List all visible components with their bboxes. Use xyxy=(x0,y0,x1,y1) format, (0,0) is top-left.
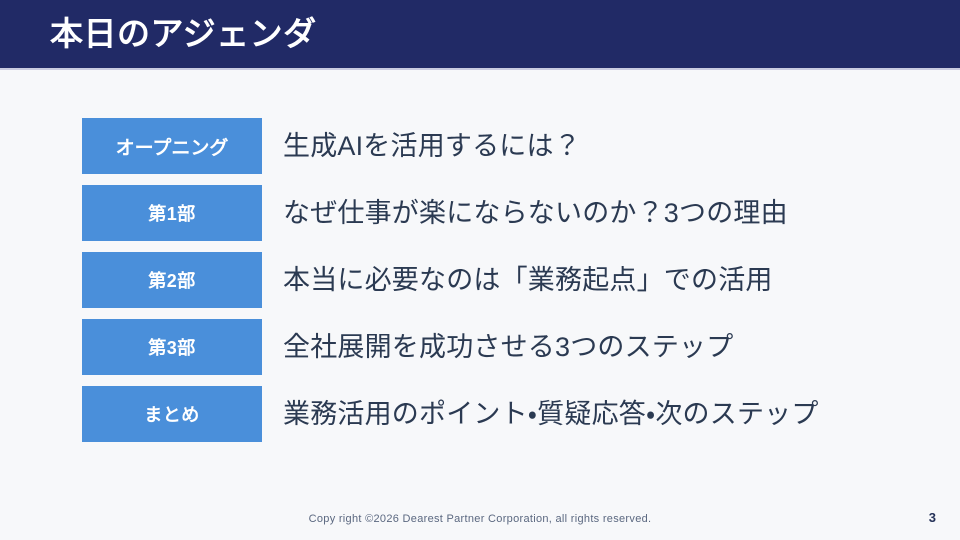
page-title: 本日のアジェンダ xyxy=(50,11,317,57)
agenda-chip-summary: まとめ xyxy=(82,386,262,442)
agenda-row-text: 生成AIを活用するには？ xyxy=(283,129,581,163)
copyright-notice: Copy right ©2026 Dearest Partner Corpora… xyxy=(0,512,960,526)
agenda-row-text: 業務活用のポイント・質疑応答・次のステップ xyxy=(283,397,819,431)
agenda-row: 第2部 本当に必要なのは「業務起点」での活用 xyxy=(82,252,882,308)
agenda-chip-part2: 第2部 xyxy=(82,252,262,308)
agenda-row: オープニング 生成AIを活用するには？ xyxy=(82,118,882,174)
agenda-row-text: 全社展開を成功させる3つのステップ xyxy=(283,330,733,364)
page-number: 3 xyxy=(929,510,936,525)
agenda-chip-opening: オープニング xyxy=(82,118,262,174)
agenda-chip-part1: 第1部 xyxy=(82,185,262,241)
agenda-row: 第1部 なぜ仕事が楽にならないのか？3つの理由 xyxy=(82,185,882,241)
agenda-chip-part3: 第3部 xyxy=(82,319,262,375)
agenda-row: 第3部 全社展開を成功させる3つのステップ xyxy=(82,319,882,375)
agenda-row: まとめ 業務活用のポイント・質疑応答・次のステップ xyxy=(82,386,882,442)
header-divider xyxy=(0,68,960,70)
slide: 本日のアジェンダ オープニング 生成AIを活用するには？ 第1部 なぜ仕事が楽に… xyxy=(0,0,960,540)
agenda-row-text: なぜ仕事が楽にならないのか？3つの理由 xyxy=(283,196,788,230)
agenda-row-text: 本当に必要なのは「業務起点」での活用 xyxy=(283,263,773,297)
agenda-list: オープニング 生成AIを活用するには？ 第1部 なぜ仕事が楽にならないのか？3つ… xyxy=(82,118,882,442)
